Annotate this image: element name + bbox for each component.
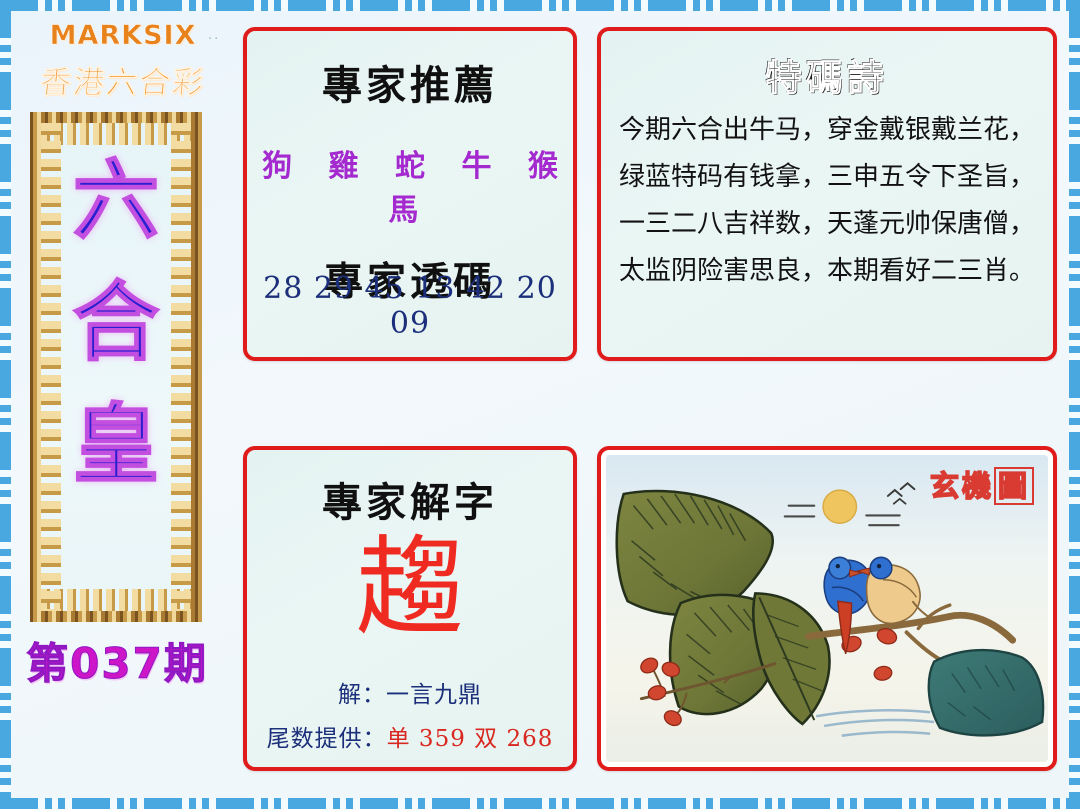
issue-number-label: 第037期 [12, 630, 222, 691]
brand-english-title: MARKSIX [12, 20, 234, 51]
seal-text-part2: 圖 [994, 467, 1034, 505]
page-border-left [0, 0, 11, 809]
scroll-vertical-title: 六合皇 [41, 140, 191, 506]
expert-recommend-panel[interactable]: 專家推薦 狗 雞 蛇 牛 猴 馬 專家透碼 28 29 45 13 42 20 … [243, 27, 577, 361]
expert-decode-panel[interactable]: 專家解字 趨 解：一言九鼎 尾数提供：单 359 双 268 [243, 446, 577, 771]
decode-character: 趨 [247, 530, 573, 648]
recommended-numbers-row: 28 29 45 13 42 20 09 [247, 271, 573, 341]
seal-text-part1: 玄機 [930, 469, 994, 503]
poem-line: 今期六合出牛马，穿金戴银戴兰花， [607, 107, 1047, 154]
poem-title: 特碼詩 [601, 49, 1053, 101]
scroll-title-char: 合 [41, 262, 191, 384]
special-code-poem-panel[interactable]: 特碼詩 今期六合出牛马，穿金戴银戴兰花， 绿蓝特码有钱拿，三申五令下圣旨， 一三… [597, 27, 1057, 361]
page-border-right [1069, 0, 1080, 809]
tail-number-label: 尾数提供： [267, 726, 387, 752]
poem-line: 太监阴险害思良，本期看好二三肖。 [607, 248, 1047, 295]
poem-line: 一三二八吉祥数，天蓬元帅保唐僧， [607, 201, 1047, 248]
scroll-ornament-bottom [41, 589, 191, 611]
page-border-bottom [0, 798, 1080, 809]
scroll-title-char: 六 [41, 140, 191, 262]
expert-decode-title: 專家解字 [247, 470, 573, 528]
poem-body: 今期六合出牛马，穿金戴银戴兰花， 绿蓝特码有钱拿，三申五令下圣旨， 一三二八吉祥… [601, 107, 1053, 295]
poem-line: 绿蓝特码有钱拿，三申五令下圣旨， [607, 154, 1047, 201]
scroll-title-char: 皇 [41, 384, 191, 506]
brand-dots-decoration: ·· [208, 32, 220, 47]
expert-recommend-title: 專家推薦 [247, 53, 573, 111]
mystery-picture-seal: 玄機圖 [930, 463, 1034, 505]
tail-number-value: 单 359 双 268 [387, 726, 554, 752]
tail-number-row: 尾数提供：单 359 双 268 [247, 719, 573, 753]
mystery-picture-canvas: 玄機圖 [606, 455, 1048, 762]
mystery-picture-panel[interactable]: 玄機圖 [597, 446, 1057, 771]
zodiac-animals-row: 狗 雞 蛇 牛 猴 馬 [247, 141, 573, 229]
page-root: MARKSIX ·· 香港六合彩 六合皇 第037期 專家推薦 狗 雞 蛇 牛 … [0, 0, 1080, 809]
brand-chinese-title: 香港六合彩 [10, 57, 237, 102]
decode-explanation: 解：一言九鼎 [247, 675, 573, 709]
